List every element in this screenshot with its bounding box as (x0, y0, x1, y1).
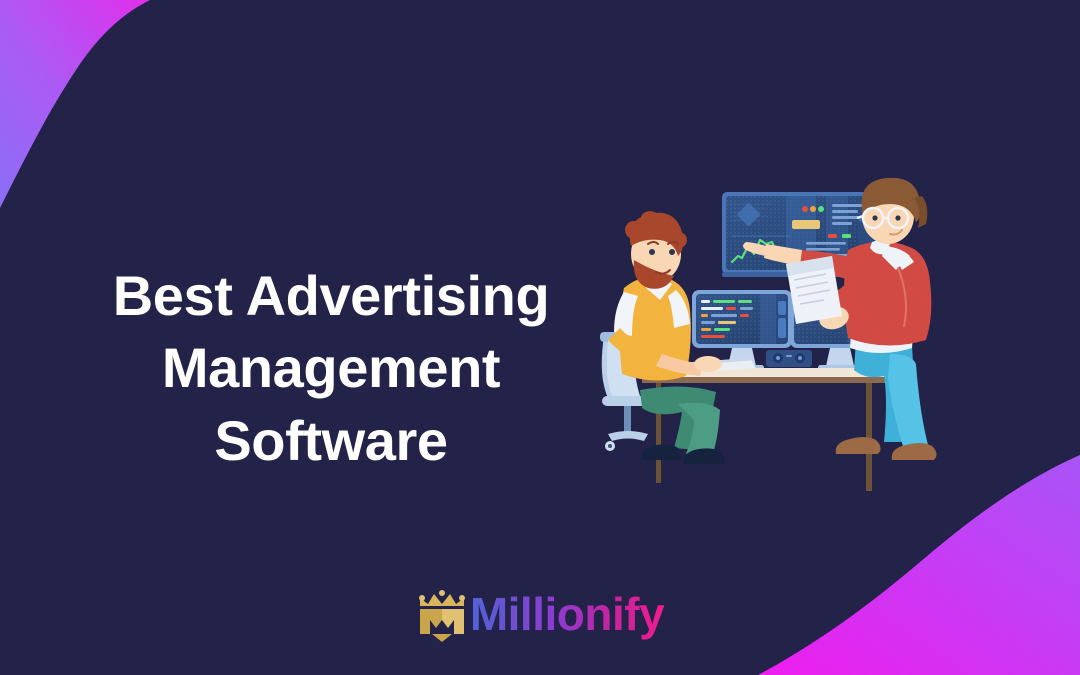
page-title: Best Advertising Management Software (96, 260, 566, 478)
desk-speaker (766, 350, 812, 367)
brand-name: Millionify (470, 591, 664, 641)
desk (642, 368, 886, 491)
brand-logo[interactable]: Millionify (0, 585, 1080, 647)
team-analytics-illustration (590, 168, 965, 503)
promo-banner: Best Advertising Management Software (0, 0, 1080, 675)
crown-m-icon (416, 590, 468, 642)
gradient-swoosh-top-left (0, 0, 430, 260)
